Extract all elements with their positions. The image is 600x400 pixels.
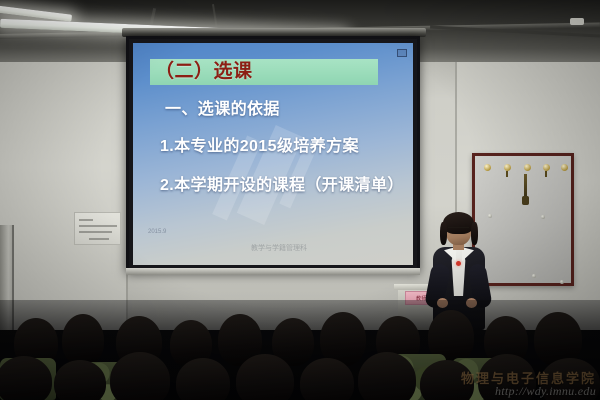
wall-notice xyxy=(74,212,121,245)
board-hanging-key xyxy=(524,174,527,198)
lecture-hall-photo: （二）选课 一、选课的依据 1.本专业的2015级培养方案 2.本学期开设的课程… xyxy=(0,0,600,400)
notice-line xyxy=(79,225,117,227)
audience-head-front xyxy=(478,354,536,400)
board-hook xyxy=(504,164,511,171)
presenter-hair-side xyxy=(440,222,447,245)
notice-line xyxy=(79,219,93,221)
board-magnet xyxy=(560,280,564,284)
board-hook xyxy=(524,164,531,171)
audience-head-front xyxy=(176,358,230,400)
presenter-badge xyxy=(456,261,461,266)
board-hook xyxy=(561,164,568,171)
slide-bullet-1: 1.本专业的2015级培养方案 xyxy=(160,132,359,156)
board-magnet xyxy=(541,215,545,219)
slide-title: （二）选课 xyxy=(155,60,253,84)
board-hook-stem xyxy=(545,171,547,177)
notice-line xyxy=(79,231,112,233)
audience-head-front xyxy=(540,358,600,400)
presentation-slide: （二）选课 一、选课的依据 1.本专业的2015级培养方案 2.本学期开设的课程… xyxy=(133,43,413,265)
audience-head-front xyxy=(110,352,170,400)
board-hook xyxy=(543,164,550,171)
audience-head-front xyxy=(300,358,354,400)
audience-head-front xyxy=(420,360,474,400)
audience-head-front xyxy=(54,360,106,400)
audience-head-front xyxy=(236,354,294,400)
screen-bottom-bar xyxy=(126,268,420,275)
presenter-hair-side xyxy=(471,222,478,245)
slide-bullet-2: 2.本学期开设的课程（开课清单） xyxy=(160,171,404,195)
slide-corner-text: 2015.9 xyxy=(148,229,166,235)
ceiling-fixture-right xyxy=(570,18,584,25)
notice-line xyxy=(89,238,109,240)
board-hook-stem xyxy=(506,171,508,177)
wall-panel-left xyxy=(0,58,128,330)
board-hook xyxy=(484,164,491,171)
audience-head xyxy=(62,314,104,366)
slide-subtitle: 一、选课的依据 xyxy=(165,95,280,119)
board-magnet xyxy=(532,274,536,278)
projection-screen: （二）选课 一、选课的依据 1.本专业的2015级培养方案 2.本学期开设的课程… xyxy=(126,36,420,272)
presenter-glasses xyxy=(448,227,469,232)
slide-footer-text: 教学与学籍管理科 xyxy=(251,243,307,253)
audience-head-front xyxy=(358,352,416,400)
audience xyxy=(0,300,600,400)
cursor-artifact xyxy=(397,49,407,57)
